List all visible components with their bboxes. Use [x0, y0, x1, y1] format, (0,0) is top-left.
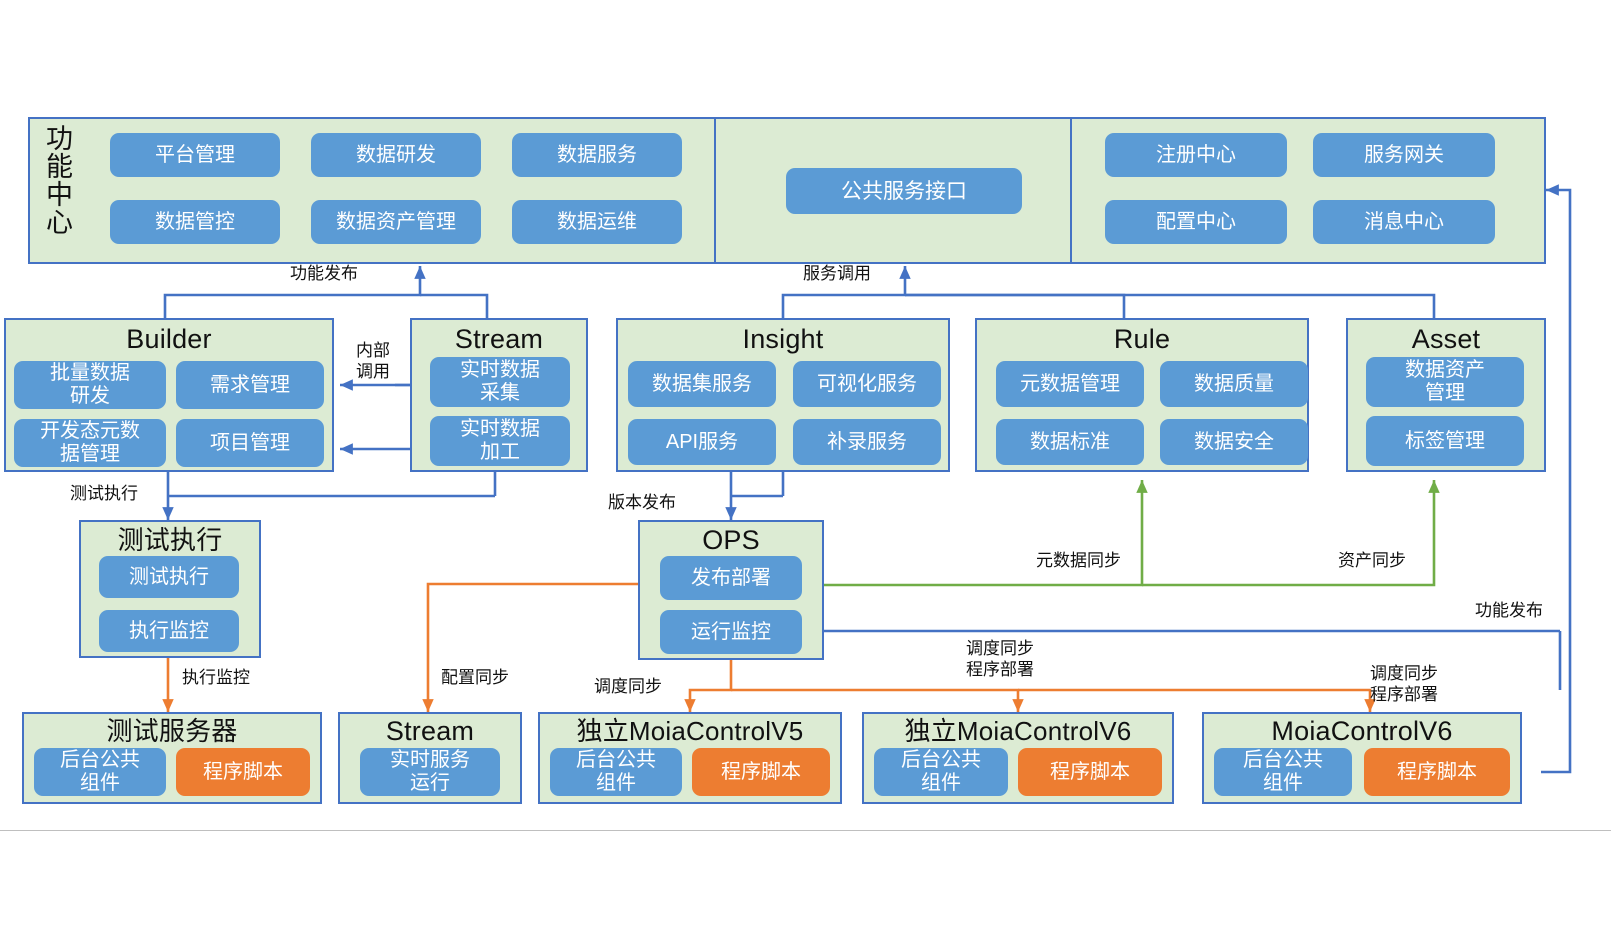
chip-message-center[interactable]: 消息中心	[1313, 200, 1495, 244]
chip-label: 程序脚本	[721, 761, 801, 784]
chip-label: 消息中心	[1364, 211, 1444, 234]
chip-release-deploy[interactable]: 发布部署	[660, 556, 802, 600]
edge-label-metadata-sync: 元数据同步	[1036, 550, 1121, 571]
chip-dataset-service[interactable]: 数据集服务	[628, 361, 776, 407]
edge-label-asset-sync: 资产同步	[1338, 550, 1406, 571]
chip-label: 数据质量	[1194, 373, 1274, 396]
platform-title: Rule	[977, 324, 1307, 354]
chip-data-ops[interactable]: 数据运维	[512, 200, 682, 244]
chip-config-center[interactable]: 配置中心	[1105, 200, 1287, 244]
chip-backend-common-1[interactable]: 后台公共组件	[34, 748, 166, 796]
chip-data-asset-mgmt[interactable]: 数据资产管理	[311, 200, 481, 244]
chip-label: 公共服务接口	[841, 180, 967, 203]
chip-backend-common-4[interactable]: 后台公共组件	[1214, 748, 1352, 796]
node-title: OPS	[640, 525, 822, 555]
chip-execute-monitor[interactable]: 执行监控	[99, 610, 239, 652]
chip-label: 开发态元数据管理	[40, 420, 140, 466]
chip-project-mgmt[interactable]: 项目管理	[176, 419, 324, 467]
chip-label: 数据资产管理	[336, 211, 456, 234]
chip-label: 数据安全	[1194, 431, 1274, 454]
chip-api-service[interactable]: API服务	[628, 419, 776, 465]
chip-tag-mgmt[interactable]: 标签管理	[1366, 416, 1524, 466]
server-title: Stream	[340, 716, 520, 746]
chip-label: 批量数据研发	[50, 362, 130, 408]
chip-supplement-service[interactable]: 补录服务	[793, 419, 941, 465]
chip-realtime-process[interactable]: 实时数据加工	[430, 416, 570, 466]
platform-title: Stream	[412, 324, 586, 354]
chip-batch-data-dev[interactable]: 批量数据研发	[14, 361, 166, 409]
chip-runtime-monitor[interactable]: 运行监控	[660, 610, 802, 654]
chip-label: 程序脚本	[1397, 761, 1477, 784]
chip-backend-common-3[interactable]: 后台公共组件	[874, 748, 1008, 796]
chip-metadata-mgmt[interactable]: 元数据管理	[996, 361, 1144, 407]
edge-label-execute-monitor: 执行监控	[182, 667, 250, 688]
chip-test-execute[interactable]: 测试执行	[99, 556, 239, 598]
chip-data-control[interactable]: 数据管控	[110, 200, 280, 244]
chip-label: 数据标准	[1030, 431, 1110, 454]
chip-data-asset-mgmt-2[interactable]: 数据资产管理	[1366, 357, 1524, 407]
chip-label: 可视化服务	[817, 373, 917, 396]
chip-label: 后台公共组件	[60, 749, 140, 795]
platform-title: Builder	[6, 324, 332, 354]
edge-label-function-publish-top: 功能发布	[290, 263, 358, 284]
chip-program-script-2[interactable]: 程序脚本	[692, 748, 830, 796]
chip-label: 实时服务运行	[390, 749, 470, 795]
chip-label: 实时数据加工	[460, 418, 540, 464]
architecture-diagram: 功能中心 平台管理 数据研发 数据服务 数据管控 数据资产管理 数据运维 公共服…	[0, 0, 1611, 940]
function-center-divider-2	[1070, 117, 1072, 264]
chip-program-script-4[interactable]: 程序脚本	[1364, 748, 1510, 796]
chip-data-dev[interactable]: 数据研发	[311, 133, 481, 177]
edge-label-function-publish-right: 功能发布	[1475, 600, 1543, 621]
edge-label-schedule-sync-1: 调度同步	[594, 676, 662, 697]
bottom-divider	[0, 830, 1611, 831]
chip-label: 注册中心	[1156, 144, 1236, 167]
chip-service-gateway[interactable]: 服务网关	[1313, 133, 1495, 177]
chip-data-service[interactable]: 数据服务	[512, 133, 682, 177]
chip-label: 数据管控	[155, 211, 235, 234]
edge-label-schedule-deploy-2: 调度同步程序部署	[966, 638, 1034, 680]
server-title: 独立MoiaControlV6	[864, 716, 1172, 746]
chip-label: 数据运维	[557, 211, 637, 234]
server-title: 测试服务器	[24, 716, 320, 746]
chip-realtime-service-run[interactable]: 实时服务运行	[360, 748, 500, 796]
chip-label: 平台管理	[155, 144, 235, 167]
chip-label: 补录服务	[827, 431, 907, 454]
chip-dev-metadata-mgmt[interactable]: 开发态元数据管理	[14, 419, 166, 467]
chip-label: 测试执行	[129, 566, 209, 589]
chip-data-security[interactable]: 数据安全	[1160, 419, 1308, 465]
chip-label: 数据资产管理	[1405, 359, 1485, 405]
chip-label: 配置中心	[1156, 211, 1236, 234]
chip-label: 后台公共组件	[576, 749, 656, 795]
chip-label: 元数据管理	[1020, 373, 1120, 396]
chip-data-standard[interactable]: 数据标准	[996, 419, 1144, 465]
edge-label-service-call: 服务调用	[803, 263, 871, 284]
chip-registry-center[interactable]: 注册中心	[1105, 133, 1287, 177]
chip-platform-mgmt[interactable]: 平台管理	[110, 133, 280, 177]
server-title: MoiaControlV6	[1204, 716, 1520, 746]
platform-title: Insight	[618, 324, 948, 354]
chip-public-service-api[interactable]: 公共服务接口	[786, 168, 1022, 214]
chip-label: 数据研发	[356, 144, 436, 167]
chip-visualization-service[interactable]: 可视化服务	[793, 361, 941, 407]
chip-label: 程序脚本	[1050, 761, 1130, 784]
node-title: 测试执行	[81, 525, 259, 555]
chip-label: 执行监控	[129, 620, 209, 643]
function-center-divider-1	[714, 117, 716, 264]
chip-label: 标签管理	[1405, 430, 1485, 453]
chip-label: 实时数据采集	[460, 359, 540, 405]
chip-label: 后台公共组件	[1243, 749, 1323, 795]
chip-label: 程序脚本	[203, 761, 283, 784]
platform-title: Asset	[1348, 324, 1544, 354]
server-title: 独立MoiaControlV5	[540, 716, 840, 746]
chip-program-script-3[interactable]: 程序脚本	[1018, 748, 1162, 796]
edge-label-internal-call: 内部调用	[340, 340, 406, 382]
chip-data-quality[interactable]: 数据质量	[1160, 361, 1308, 407]
chip-label: API服务	[666, 431, 738, 454]
chip-label: 需求管理	[210, 374, 290, 397]
chip-label: 发布部署	[691, 567, 771, 590]
chip-label: 服务网关	[1364, 144, 1444, 167]
edge-label-config-sync: 配置同步	[441, 667, 509, 688]
chip-label: 运行监控	[691, 621, 771, 644]
chip-backend-common-2[interactable]: 后台公共组件	[550, 748, 682, 796]
edge-label-schedule-deploy-3: 调度同步程序部署	[1370, 663, 1438, 705]
chip-label: 后台公共组件	[901, 749, 981, 795]
chip-label: 数据服务	[557, 144, 637, 167]
function-center-vertical-label: 功能中心	[38, 124, 72, 256]
chip-label: 数据集服务	[652, 373, 752, 396]
edge-label-version-publish: 版本发布	[608, 492, 676, 513]
edge-label-test-execute: 测试执行	[70, 483, 138, 504]
chip-requirement-mgmt[interactable]: 需求管理	[176, 361, 324, 409]
chip-label: 项目管理	[210, 432, 290, 455]
chip-realtime-collect[interactable]: 实时数据采集	[430, 357, 570, 407]
chip-program-script-1[interactable]: 程序脚本	[176, 748, 310, 796]
